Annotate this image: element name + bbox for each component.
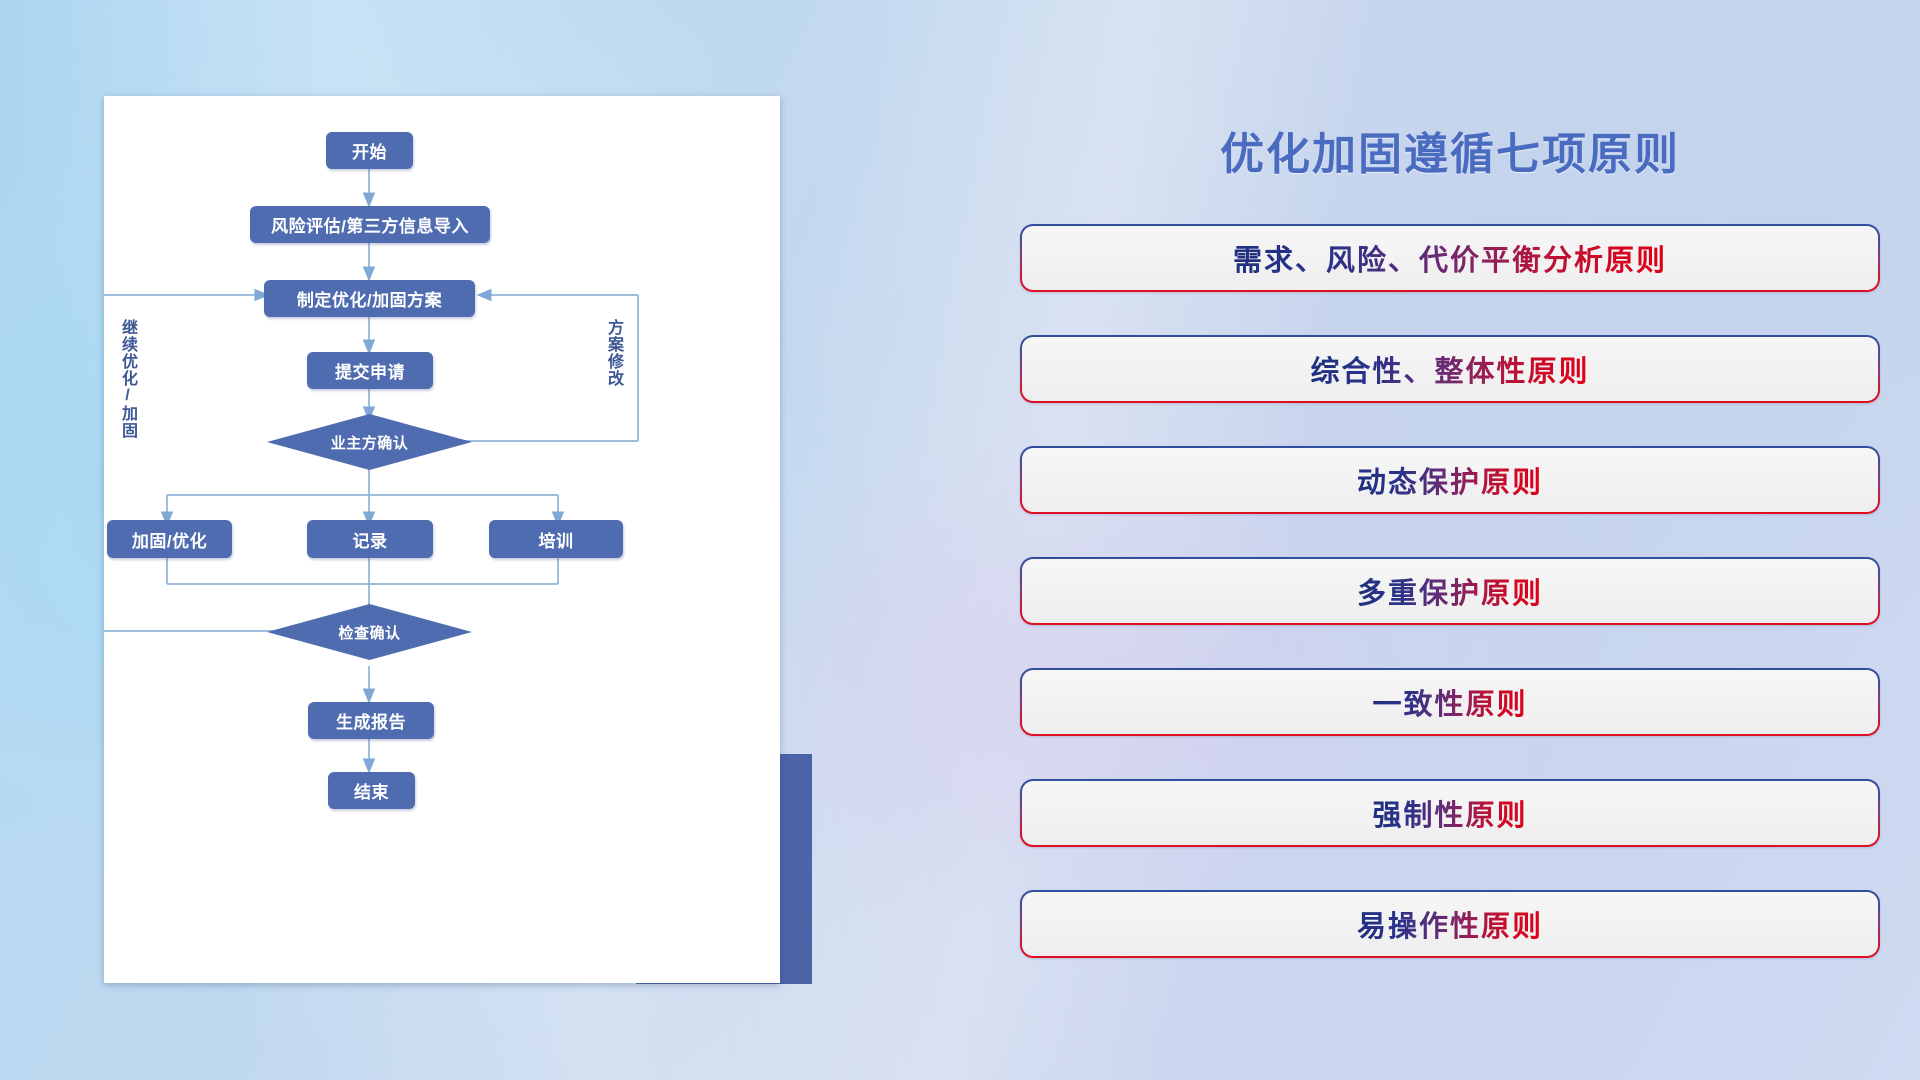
flow-node-report-label: 生成报告 [336,708,406,733]
flow-node-end[interactable]: 结束 [328,772,415,809]
principle-item-3-label: 动态保护原则 [1357,459,1543,501]
flow-node-end-label: 结束 [354,778,389,803]
principle-item-6-inner: 强制性原则 [1022,781,1877,844]
principle-item-2-label: 综合性、整体性原则 [1310,348,1589,390]
flow-edge-label-left-loop: 继续优化/加固 [119,319,135,439]
flow-node-risk-assessment[interactable]: 风险评估/第三方信息导入 [250,206,490,243]
flow-node-plan-label: 制定优化/加固方案 [297,286,442,311]
principles-panel: 优化加固遵循七项原则 需求、风险、代价平衡分析原则 综合性、整体性原则 动态保护… [1020,60,1880,1020]
principle-item-3-inner: 动态保护原则 [1022,448,1877,511]
principle-item-5-inner: 一致性原则 [1022,670,1877,733]
flow-node-report[interactable]: 生成报告 [308,702,434,739]
principle-item-1-inner: 需求、风险、代价平衡分析原则 [1022,226,1877,289]
principle-item-6-label: 强制性原则 [1372,792,1527,834]
principle-item-1-label: 需求、风险、代价平衡分析原则 [1233,237,1667,279]
principle-item-1[interactable]: 需求、风险、代价平衡分析原则 [1020,224,1880,292]
flow-node-record-label: 记录 [353,527,388,552]
principle-item-2-inner: 综合性、整体性原则 [1022,337,1877,400]
flow-node-training-label: 培训 [539,527,574,552]
flow-decision-inspect-confirm-label: 检查确认 [338,622,400,643]
page-title: 优化加固遵循七项原则 [1020,118,1880,182]
principle-item-6[interactable]: 强制性原则 [1020,779,1880,847]
principle-item-4-inner: 多重保护原则 [1022,559,1877,622]
flow-node-start[interactable]: 开始 [326,132,413,169]
flow-node-reinforce-label: 加固/优化 [132,527,207,552]
principle-item-7-label: 易操作性原则 [1357,903,1543,945]
principle-item-4-label: 多重保护原则 [1357,570,1543,612]
principle-item-4[interactable]: 多重保护原则 [1020,557,1880,625]
flow-node-risk-assessment-label: 风险评估/第三方信息导入 [271,212,469,237]
flow-edge-label-right-loop: 方案修改 [605,319,621,387]
flow-node-plan[interactable]: 制定优化/加固方案 [264,280,475,317]
principle-item-5-label: 一致性原则 [1372,681,1527,723]
principle-list: 需求、风险、代价平衡分析原则 综合性、整体性原则 动态保护原则 多重保护原则 一… [1020,224,1880,1001]
principle-item-2[interactable]: 综合性、整体性原则 [1020,335,1880,403]
flow-node-submit-label: 提交申请 [335,358,405,383]
flow-decision-owner-confirm-label: 业主方确认 [331,432,409,453]
flow-node-training[interactable]: 培训 [489,520,623,558]
flow-node-reinforce[interactable]: 加固/优化 [107,520,232,558]
principle-item-3[interactable]: 动态保护原则 [1020,446,1880,514]
principle-item-5[interactable]: 一致性原则 [1020,668,1880,736]
flowchart: 开始 风险评估/第三方信息导入 制定优化/加固方案 提交申请 业主方确认 加固/… [104,96,780,983]
flowchart-card: 开始 风险评估/第三方信息导入 制定优化/加固方案 提交申请 业主方确认 加固/… [104,96,780,983]
flow-node-record[interactable]: 记录 [307,520,433,558]
flow-node-start-label: 开始 [352,138,387,163]
flow-node-submit[interactable]: 提交申请 [307,352,433,389]
principle-item-7-inner: 易操作性原则 [1022,892,1877,955]
principle-item-7[interactable]: 易操作性原则 [1020,890,1880,958]
